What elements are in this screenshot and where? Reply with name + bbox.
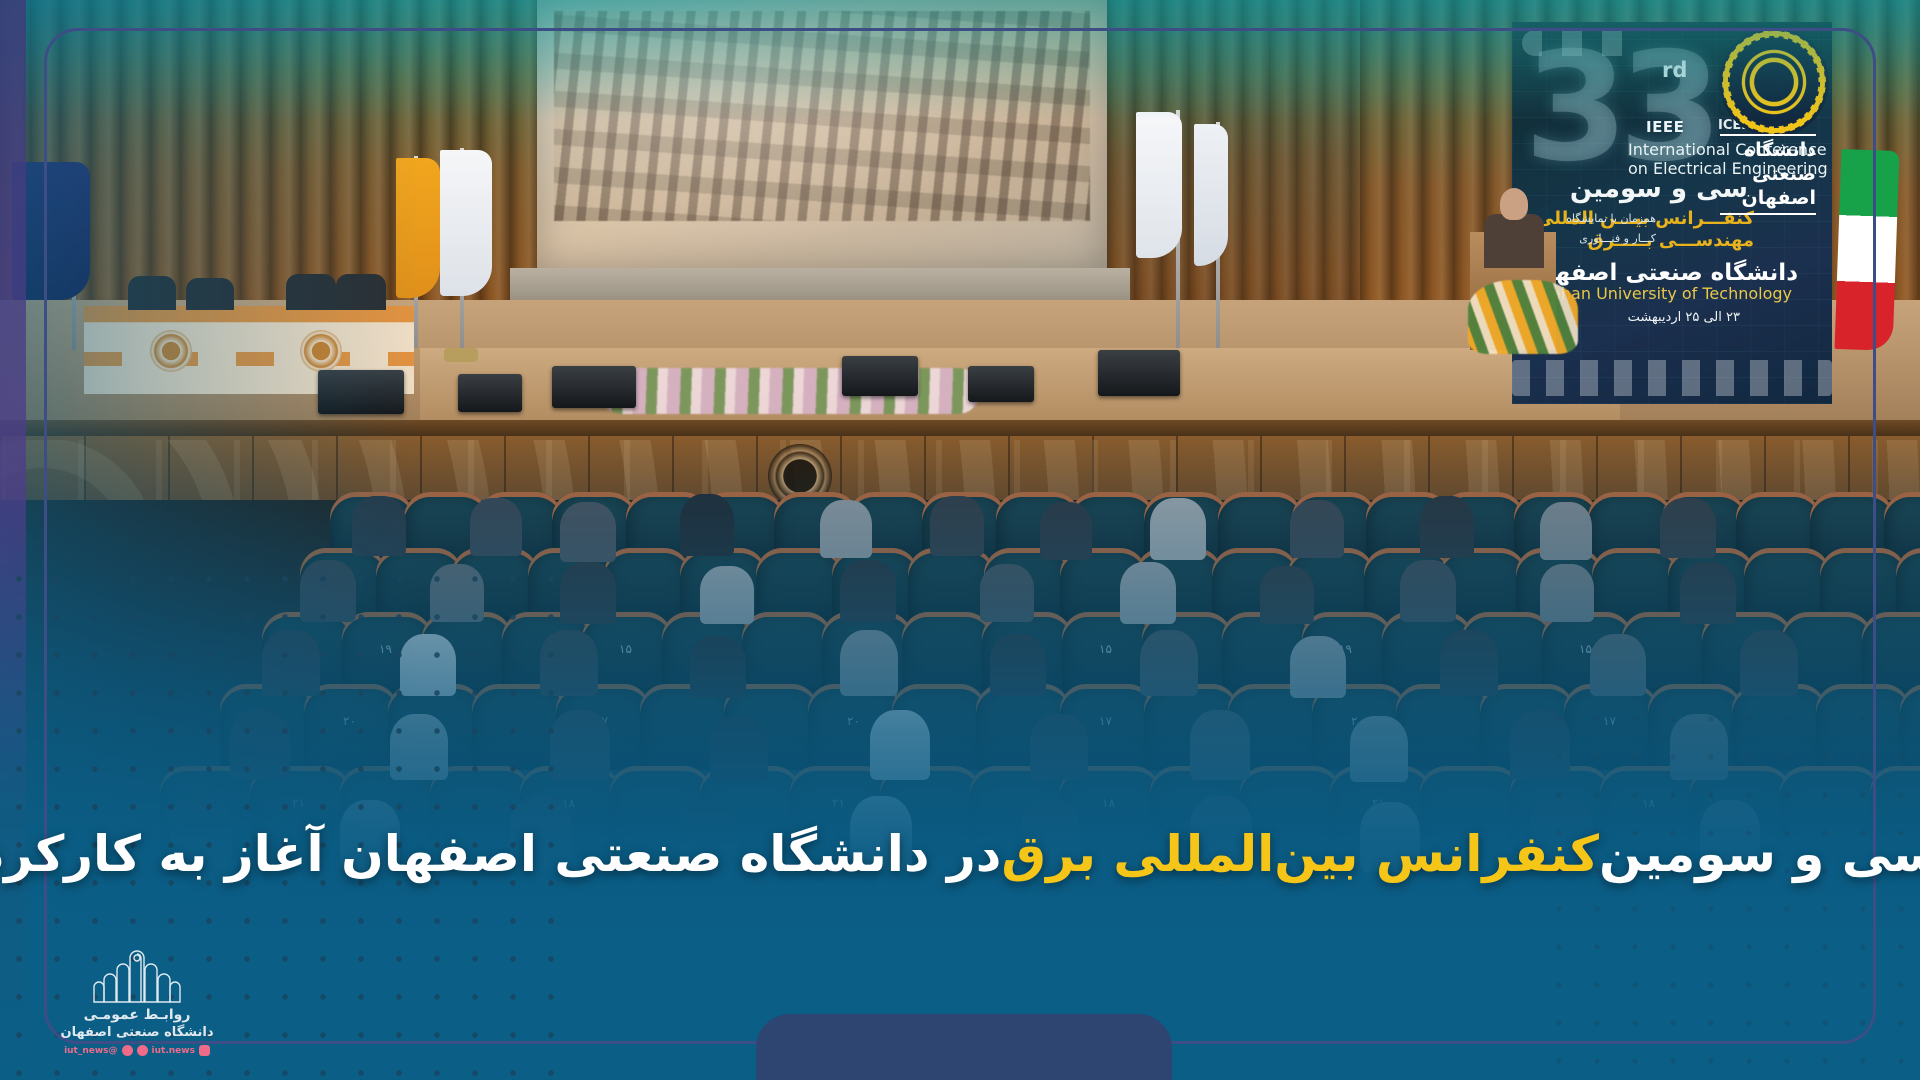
speaker-head — [1500, 188, 1528, 220]
stage-monitor — [842, 356, 918, 396]
stage-monitor — [968, 366, 1034, 402]
whatsapp-icon[interactable] — [122, 1045, 133, 1056]
instagram-icon[interactable] — [199, 1045, 210, 1056]
pr-logo-line-1: روابـط عمومـی — [52, 1007, 222, 1023]
social-handles: iut.news @iut_news — [52, 1045, 222, 1056]
handle-other: @iut_news — [64, 1046, 117, 1056]
handle-instagram: iut.news — [152, 1046, 195, 1056]
speaker-body — [1484, 214, 1544, 268]
naqsh-jahan-building-icon — [91, 948, 183, 1004]
stage-flower-arrangement — [600, 368, 980, 414]
banner-university-fa: دانشگاه صنعتی اصفهان — [1527, 260, 1798, 286]
poster-canvas: 33 rd IEEE ICEE 2025 International Confe… — [0, 0, 1920, 1080]
banner-side-university-fa: دانشگاه صنعتی اصفهان — [1720, 134, 1816, 215]
banner-dates: ۲۳ الی ۲۵ اردیبهشت — [1628, 310, 1740, 325]
stage-monitor — [552, 366, 636, 408]
flag-white-right-b — [1194, 124, 1228, 266]
banner-sponsor-logos — [1512, 360, 1832, 396]
stage-monitor — [458, 374, 522, 412]
headline-segment-2: در دانشگاه صنعتی اصفهان آغاز به کارکرد — [0, 825, 1001, 883]
telegram-icon[interactable] — [137, 1045, 148, 1056]
pr-logo-line-2: دانشگاه صنعتی اصفهان — [52, 1025, 222, 1040]
flag-white-right-a — [1136, 112, 1182, 258]
banner-ieee-label: IEEE — [1646, 118, 1684, 136]
banner-fa-small-2: کـــار و فنـــاوری — [1579, 232, 1656, 245]
headline-segment-1: سی و سومین — [1599, 825, 1920, 883]
flag-base — [444, 348, 478, 362]
lectern-flowers — [1468, 280, 1578, 354]
public-relations-logo: روابـط عمومـی دانشگاه صنعتی اصفهان iut.n… — [52, 948, 222, 1058]
banner-fa-small-1: همزمان با نمایشگاه — [1566, 212, 1656, 225]
headline-highlight: کنفرانس بین‌المللی برق — [1001, 825, 1599, 883]
page-title: سی و سومین کنفرانس بین‌المللی برق در دان… — [0, 812, 1920, 896]
flag-white-left — [440, 150, 492, 296]
bottom-nav-blob[interactable] — [756, 1014, 1172, 1080]
iran-flag — [1835, 149, 1900, 351]
stage-monitor — [1098, 350, 1180, 396]
